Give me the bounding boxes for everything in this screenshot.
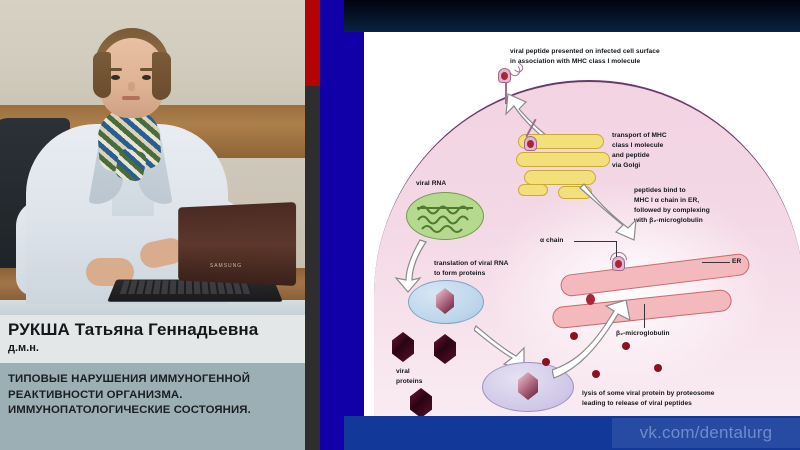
divider-stripe-dark (305, 86, 320, 450)
leader-line-beta2 (644, 304, 645, 328)
divider-stripe-red (305, 0, 320, 86)
arrow-er-to-golgi-icon (576, 180, 640, 242)
speaker-name: РУКША Татьяна Геннадьевна (8, 319, 297, 341)
speaker-eyebrow-right (140, 68, 153, 71)
er-mhc-peptide (615, 260, 622, 268)
leader-line-alpha-chain-vert (616, 241, 617, 257)
label-transport-line3: and peptide (612, 152, 722, 161)
laptop-brand-label: SAMSUNG (205, 263, 247, 270)
viral-peptide-dot-2 (542, 358, 550, 366)
label-viral-proteins-line1: viral (396, 368, 446, 377)
speaker-eye-right (142, 75, 151, 80)
lecture-topic-banner: ТИПОВЫЕ НАРУШЕНИЯ ИММУНОГЕННОЙ РЕАКТИВНО… (0, 363, 305, 450)
label-viral-rna: viral RNA (416, 180, 486, 189)
speaker-hair-right (152, 52, 171, 100)
label-transport-line2: class I molecule (612, 142, 722, 151)
speaker-eyebrow-left (109, 68, 122, 71)
slide-top-bar (344, 0, 800, 32)
label-viral-proteins-line2: proteins (396, 378, 446, 387)
label-lysis-line2: leading to release of viral peptides (582, 400, 792, 409)
golgi-mhc-peptide (527, 140, 534, 148)
viral-peptide-dot-5 (654, 364, 662, 372)
speaker-hair-left (93, 52, 111, 98)
speaker-degree: д.м.н. (8, 341, 297, 355)
site-watermark: vk.com/dentalurg (612, 418, 800, 448)
viral-rna-strands-icon (414, 200, 478, 234)
speaker-nose (128, 82, 135, 91)
divider-stripe-blue (320, 0, 344, 450)
surface-mhc-peptide (501, 72, 508, 80)
topic-line-1: ТИПОВЫЕ НАРУШЕНИЯ ИММУНОГЕННОЙ (8, 372, 297, 388)
slide-mhc-class-i-pathway-diagram[interactable]: viral peptide presented on infected cell… (364, 32, 800, 416)
leader-line-alpha-chain (574, 241, 616, 242)
label-translation-line2: to form proteins (434, 270, 564, 279)
label-binding-b2m: β₂-microglobulin (649, 217, 703, 224)
label-binding-line3: followed by complexing (634, 207, 774, 216)
label-surface-presentation-line2: in association with MHC class I molecule (510, 58, 770, 67)
er-mhc-arms (610, 252, 627, 260)
topic-line-2: РЕАКТИВНОСТИ ОРГАНИЗМА. (8, 388, 297, 404)
topic-line-3: ИММУНОПАТОЛОГИЧЕСКИЕ СОСТОЯНИЯ. (8, 403, 297, 419)
speaker-name-banner: РУКША Татьяна Геннадьевна д.м.н. (0, 315, 305, 363)
speaker-mouth (122, 96, 140, 100)
arrow-peptides-to-er-icon (552, 300, 642, 382)
label-binding-line1: peptides bind to (634, 187, 774, 196)
label-er: ER (732, 258, 762, 267)
laptop-screen-lid (178, 202, 296, 286)
speaker-eye-left (111, 75, 120, 80)
label-translation-line1: translation of viral RNA (434, 260, 564, 269)
label-lysis-line1: lysis of some viral protein by proteosom… (582, 390, 792, 399)
label-surface-presentation-line1: viral peptide presented on infected cell… (510, 48, 770, 57)
label-binding-line4: with β₂-microglobulin (634, 217, 774, 226)
label-binding-line2: MHC I α chain in ER, (634, 197, 774, 206)
video-player-frame: SAMSUNG РУКША Татьяна Геннадьевна д.м.н.… (0, 0, 800, 450)
label-transport-line4: via Golgi (612, 162, 722, 171)
speaker-video-panel[interactable]: SAMSUNG РУКША Татьяна Геннадьевна д.м.н.… (0, 0, 305, 450)
label-transport-line1: transport of MHC (612, 132, 722, 141)
golgi-vesicle-1 (518, 184, 548, 196)
leader-line-er (702, 262, 730, 263)
golgi-cisterna-2 (516, 152, 610, 167)
